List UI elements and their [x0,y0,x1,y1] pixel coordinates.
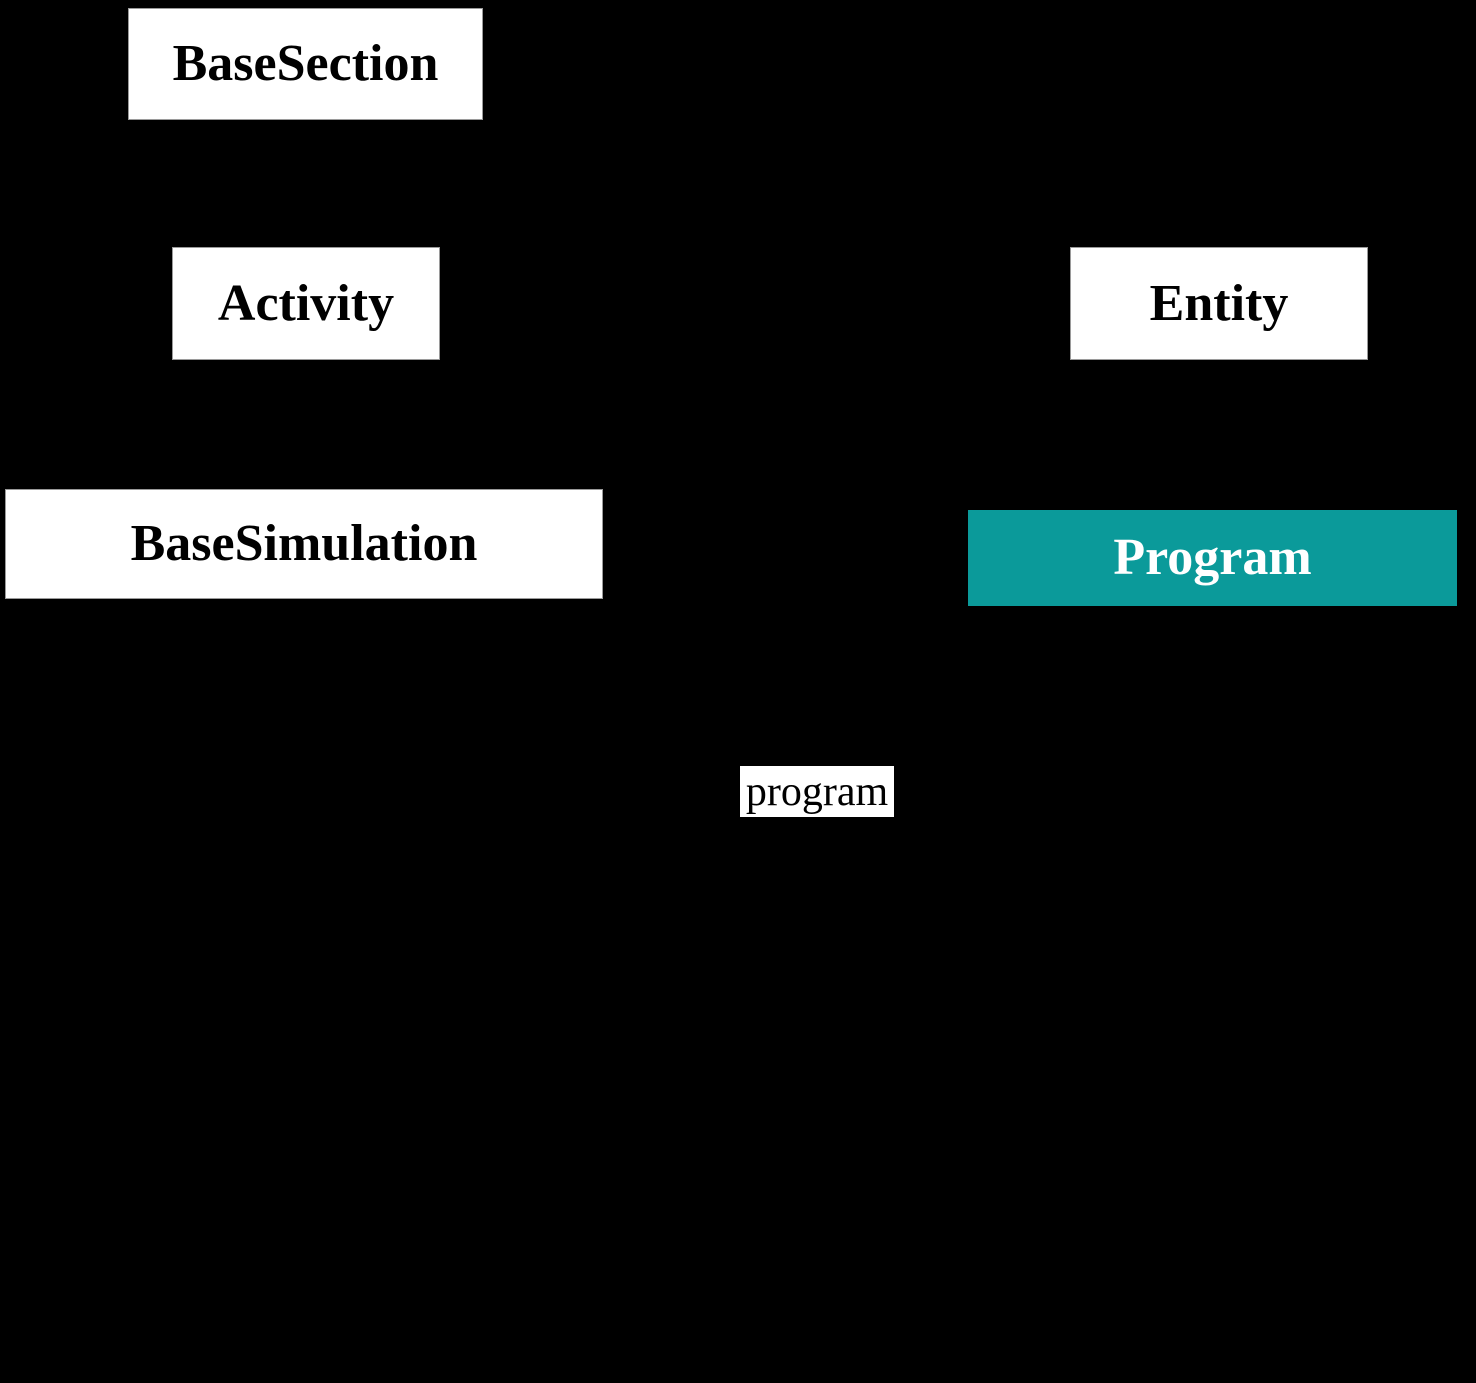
node-basesimulation[interactable]: BaseSimulation [5,489,603,599]
edge-label-program: program [740,766,894,817]
edge-label-program-text: program [746,771,888,813]
node-basesection-label: BaseSection [173,38,439,90]
class-diagram-canvas: BaseSection Activity BaseSimulation Enti… [0,0,1476,1383]
node-entity[interactable]: Entity [1070,247,1368,360]
edge-layer [0,0,1476,1383]
node-program[interactable]: Program [968,510,1457,606]
node-basesection[interactable]: BaseSection [128,8,483,120]
node-activity-label: Activity [218,278,394,330]
node-activity[interactable]: Activity [172,247,440,360]
node-program-label: Program [1113,532,1311,584]
node-entity-label: Entity [1150,278,1289,330]
node-basesimulation-label: BaseSimulation [131,518,478,570]
